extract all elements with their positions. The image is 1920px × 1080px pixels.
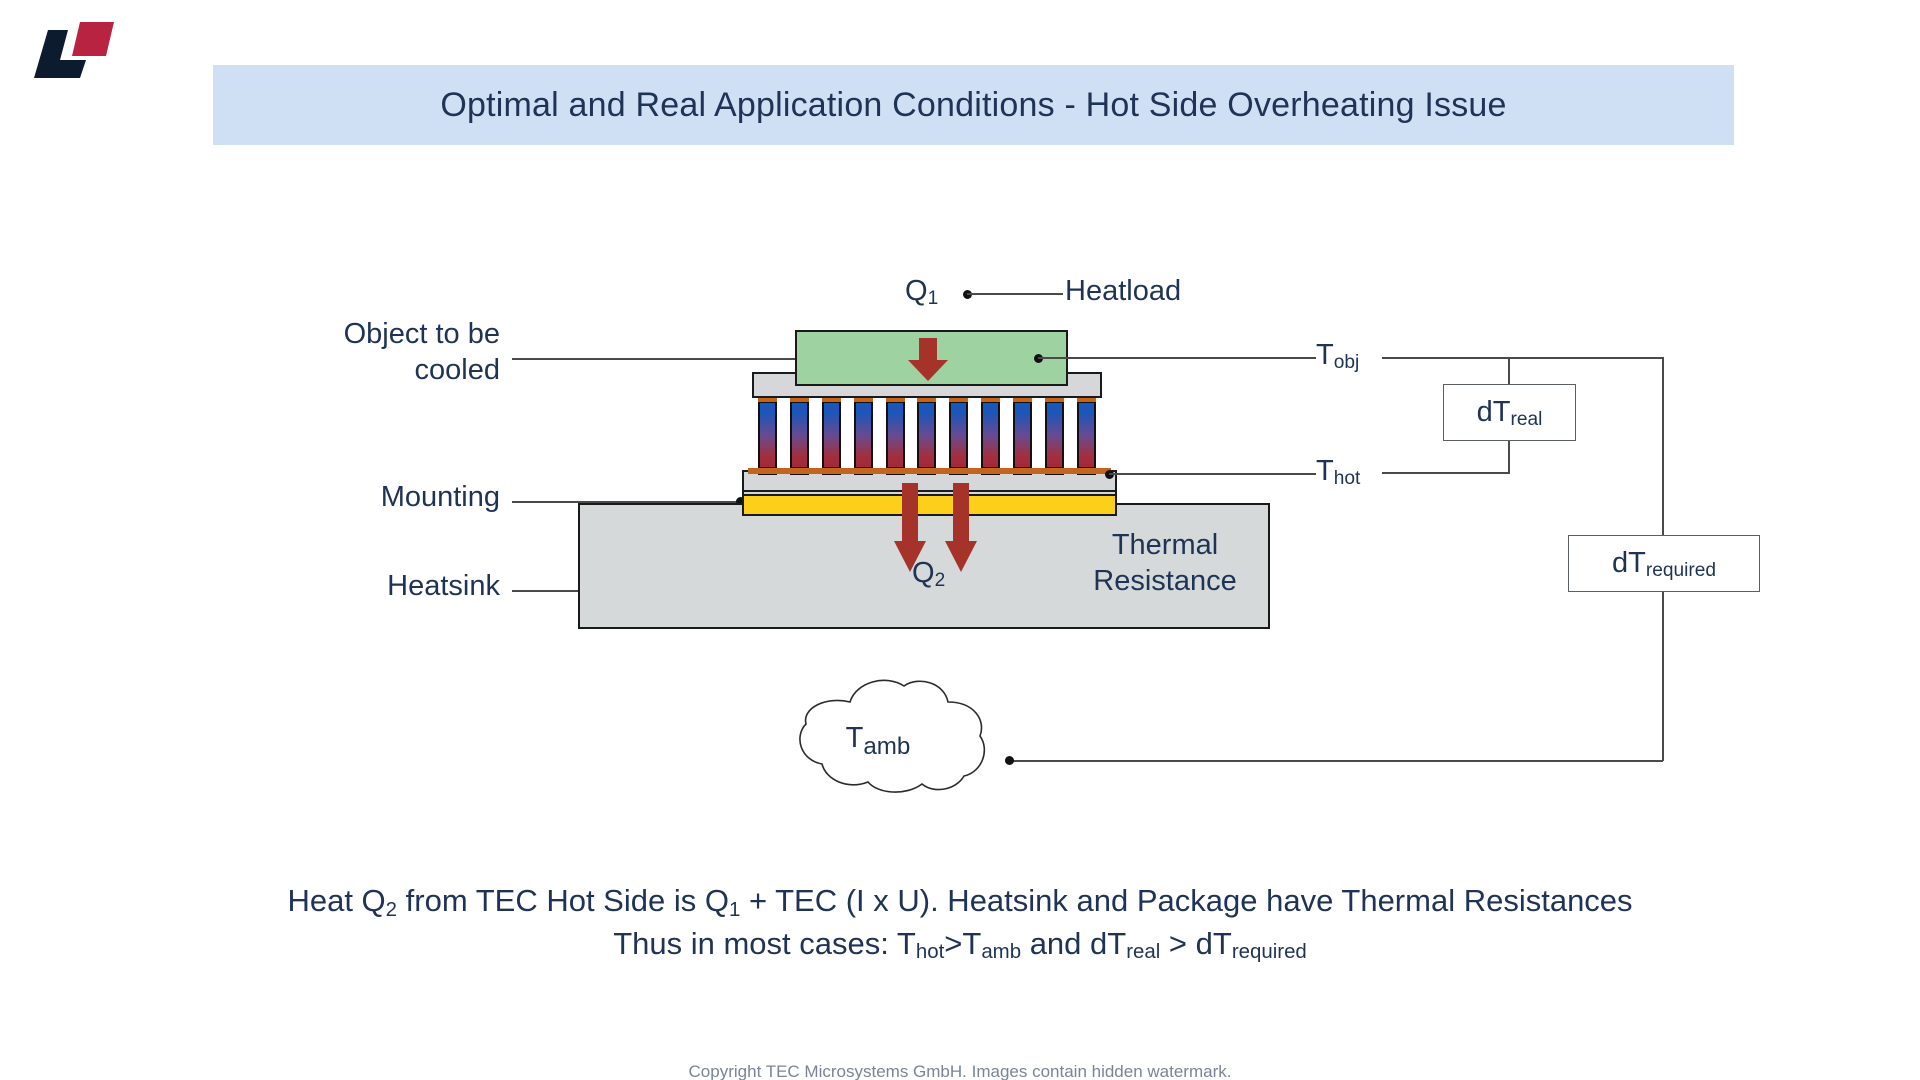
tec-pellet [917, 396, 936, 474]
heatload-arrow-icon [906, 338, 950, 382]
heatload-label: Heatload [1065, 275, 1181, 308]
dtreq-bottom-drop [1662, 591, 1664, 761]
tec-pellet [949, 396, 968, 474]
tec-pellet [822, 396, 841, 474]
dtreq-top-drop [1662, 357, 1664, 536]
slide-canvas: Optimal and Real Application Conditions … [0, 0, 1920, 1080]
thot-connector-dot [1105, 470, 1114, 479]
label-object-to-be-cooled: Object to be cooled [260, 316, 500, 389]
q1-symbol: Q1 [905, 275, 938, 308]
page-title: Optimal and Real Application Conditions … [440, 86, 1506, 125]
tobj-leader-line [1038, 357, 1316, 359]
object-leader-line [512, 358, 812, 360]
copyright-footer: Copyright TEC Microsystems GmbH. Images … [0, 1062, 1920, 1080]
summary-caption: Heat Q2 from TEC Hot Side is Q1 + TEC (I… [0, 880, 1920, 966]
title-banner: Optimal and Real Application Conditions … [213, 65, 1734, 145]
label-t-obj: Tobj [1316, 339, 1359, 372]
dtreal-bottom-line [1382, 472, 1510, 474]
tobj-connector-dot [1034, 354, 1043, 363]
tec-pellet [1077, 396, 1096, 474]
tec-pellet [1013, 396, 1032, 474]
tec-pellet [886, 396, 905, 474]
dtreq-ambient-line [1013, 760, 1663, 762]
caption-line-1: Heat Q2 from TEC Hot Side is Q1 + TEC (I… [0, 880, 1920, 923]
q2-symbol: Q2 [912, 557, 945, 590]
dtreal-top-drop [1508, 357, 1510, 385]
dtreq-top-line [1382, 357, 1663, 359]
q1-connector-dot [963, 290, 972, 299]
q2-arrow-icon-right [944, 483, 978, 573]
caption-line-2: Thus in most cases: Thot>Tamb and dTreal… [0, 923, 1920, 966]
mounting-yellow-layer [742, 494, 1117, 516]
tec-pellet [981, 396, 1000, 474]
thot-leader-line [1109, 473, 1316, 475]
q1-leader-line [967, 293, 1063, 295]
tec-pellet [758, 396, 777, 474]
tec-pellet [854, 396, 873, 474]
dtreal-bottom-drop [1508, 440, 1510, 473]
tec-pellet [1045, 396, 1064, 474]
label-t-hot: Thot [1316, 455, 1360, 488]
tec-microsystems-logo [22, 16, 132, 82]
label-mounting: Mounting [300, 481, 500, 514]
tec-pellet [790, 396, 809, 474]
thermal-resistance-label: Thermal Resistance [1060, 527, 1270, 600]
dt-required-box: dTrequired [1568, 535, 1760, 592]
tec-pellet-array [758, 396, 1096, 474]
dt-real-box: dTreal [1443, 384, 1576, 441]
label-t-amb: Tamb [778, 722, 978, 761]
label-heatsink: Heatsink [310, 570, 500, 603]
